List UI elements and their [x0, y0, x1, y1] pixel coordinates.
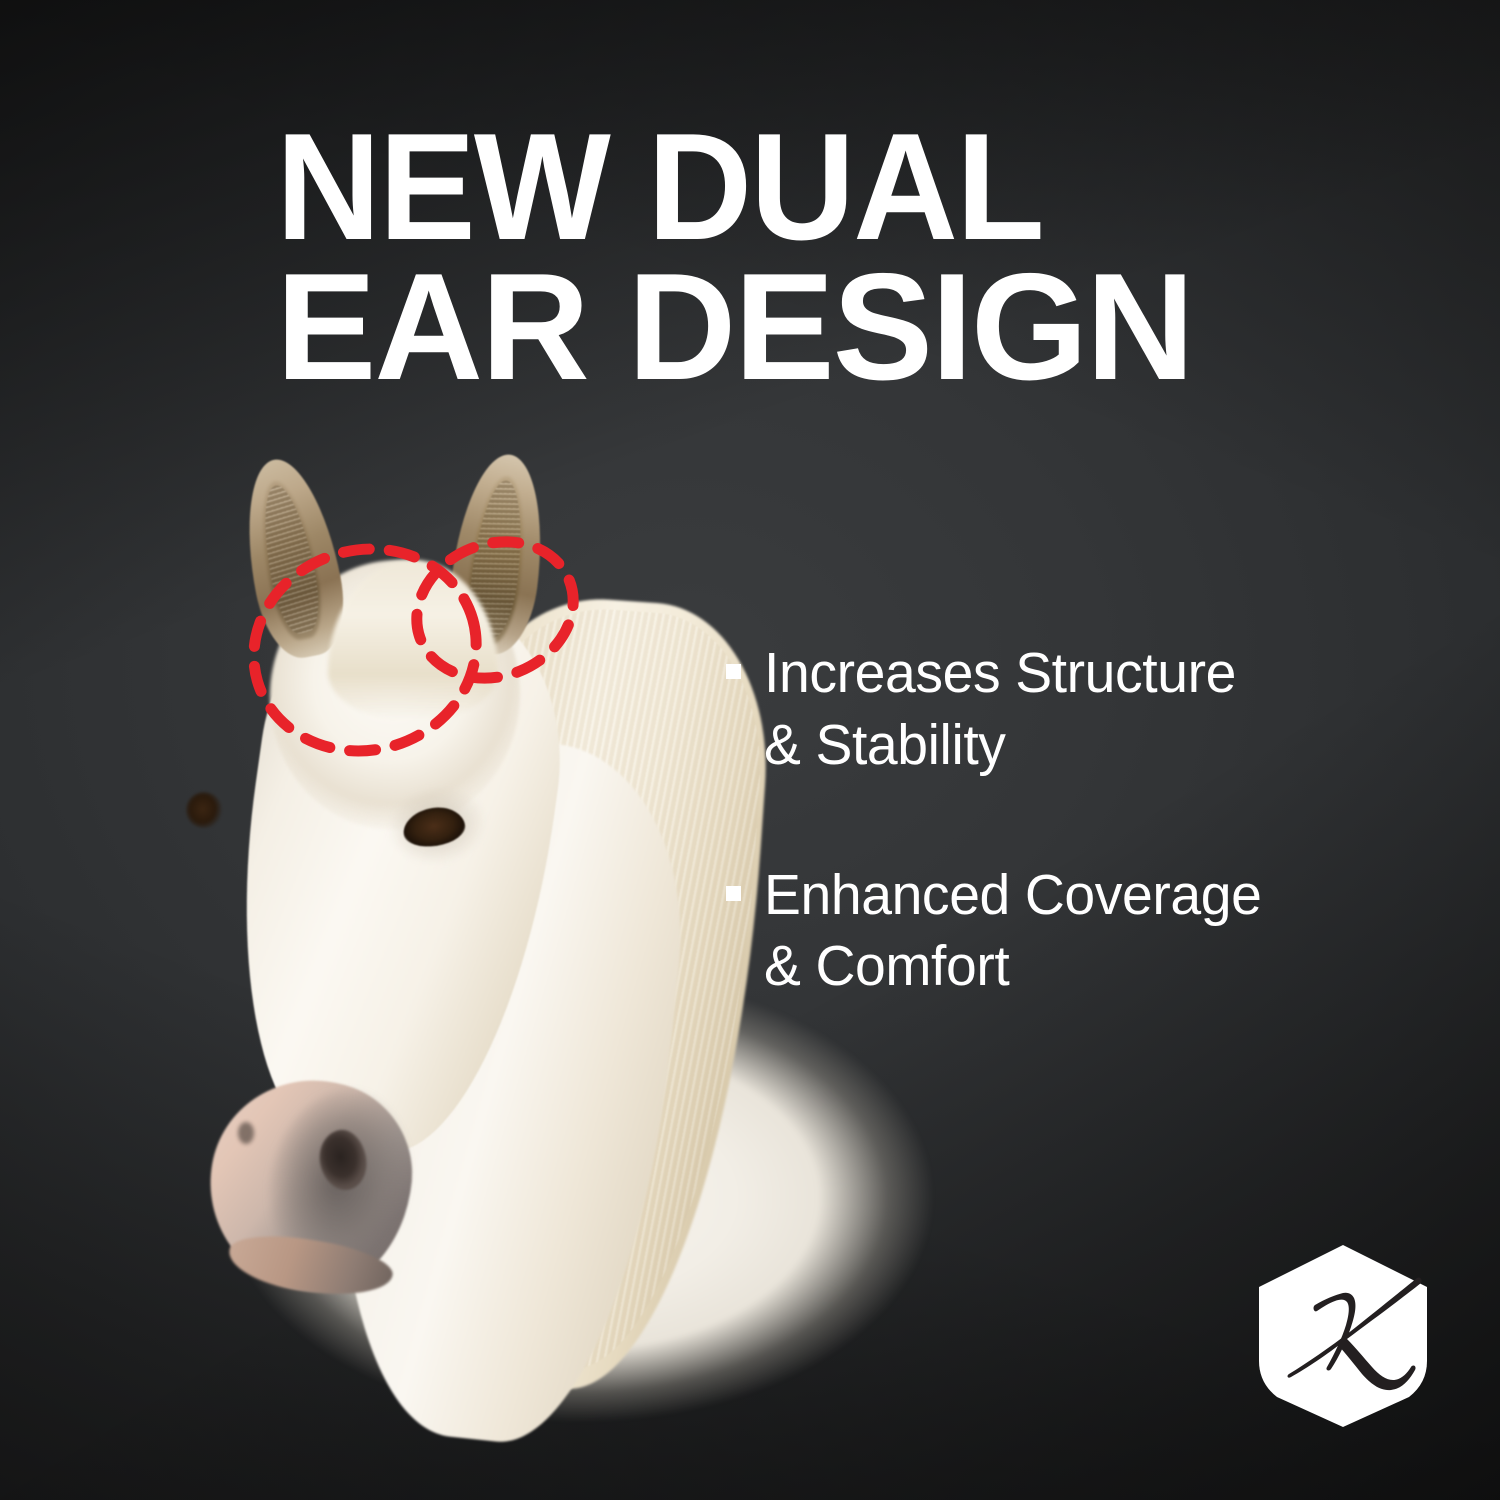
- marketing-banner: NEW DUAL EAR DESIGN Increases Structure …: [0, 0, 1500, 1500]
- square-bullet-icon: [726, 886, 741, 901]
- feature-list: Increases Structure & Stability Enhanced…: [726, 638, 1426, 1081]
- list-item: Enhanced Coverage & Comfort: [726, 860, 1426, 1004]
- headline-line-2: EAR DESIGN: [276, 258, 1246, 398]
- feature-text: Increases Structure & Stability: [764, 638, 1236, 782]
- list-item: Increases Structure & Stability: [726, 638, 1426, 782]
- square-bullet-icon: [726, 664, 741, 679]
- brand-logo: [1251, 1243, 1435, 1429]
- horse-far-nostril: [238, 1122, 254, 1144]
- feature-text: Enhanced Coverage & Comfort: [764, 860, 1262, 1004]
- horse-left-eye: [183, 789, 225, 831]
- headline-line-1: NEW DUAL: [276, 118, 1212, 258]
- page-title: NEW DUAL EAR DESIGN: [276, 118, 1256, 398]
